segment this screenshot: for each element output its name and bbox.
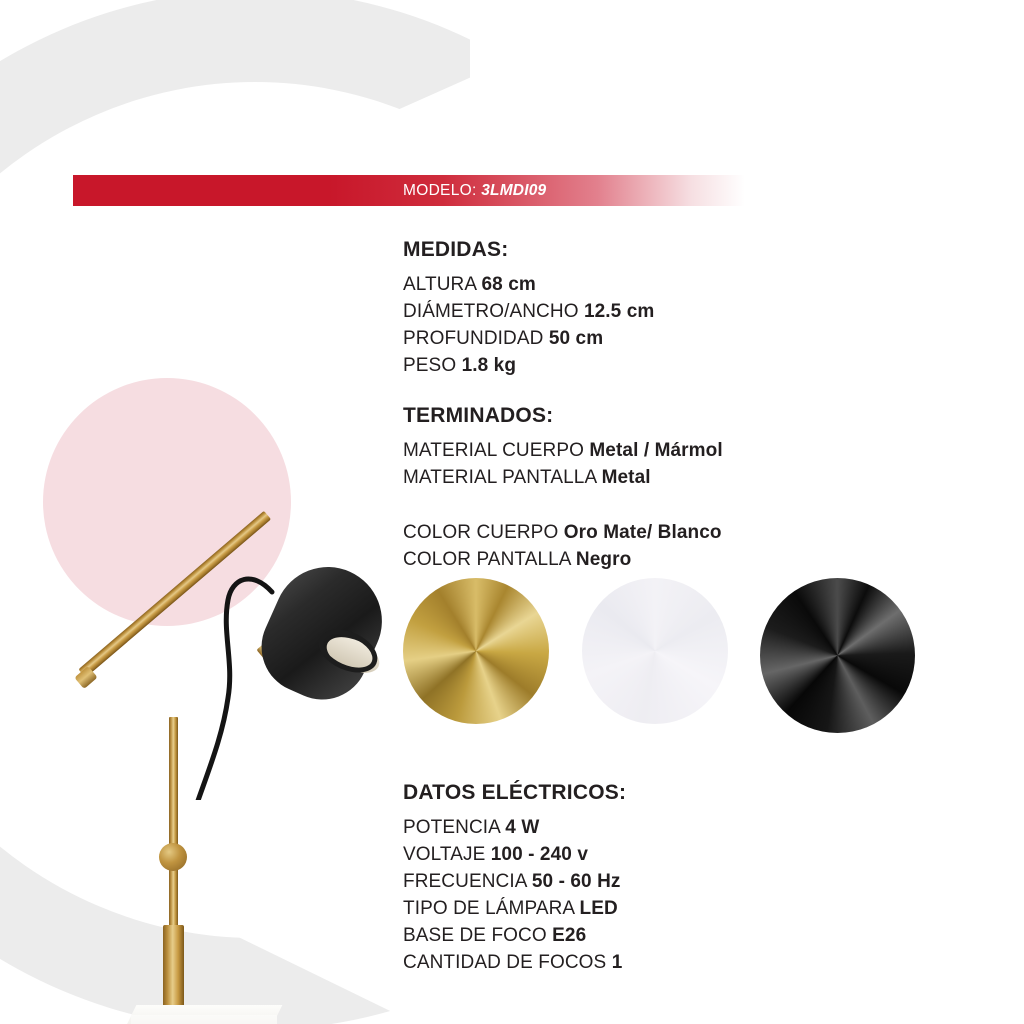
lamp-marble-base	[131, 1015, 277, 1024]
datos-electricos-heading: DATOS ELÉCTRICOS:	[403, 781, 823, 805]
spec-label: DIÁMETRO/ANCHO	[403, 301, 579, 322]
spec-label: COLOR CUERPO	[403, 522, 558, 543]
lamp-pivot-knob	[159, 843, 187, 871]
spec-row-material-cuerpo: MATERIAL CUERPO Metal / Mármol	[403, 438, 823, 465]
finish-swatches	[403, 578, 923, 733]
spec-label: COLOR PANTALLA	[403, 549, 571, 570]
model-banner-label: MODELO:	[403, 182, 477, 199]
spec-label: PESO	[403, 355, 456, 376]
section-terminados: TERMINADOS: MATERIAL CUERPO Metal / Márm…	[403, 404, 823, 574]
swatch-oro-mate	[403, 578, 549, 724]
spec-row-diametro: DIÁMETRO/ANCHO 12.5 cm	[403, 299, 823, 326]
spec-value: 50 cm	[549, 328, 603, 349]
spec-row-material-pantalla: MATERIAL PANTALLA Metal	[403, 465, 823, 492]
swatch-blanco	[582, 578, 728, 724]
spec-label: POTENCIA	[403, 817, 500, 838]
product-photo	[20, 270, 400, 800]
spec-label: ALTURA	[403, 274, 476, 295]
swatch-negro	[760, 578, 915, 733]
spec-row-voltaje: VOLTAJE 100 - 240 v	[403, 842, 823, 869]
terminados-heading: TERMINADOS:	[403, 404, 823, 428]
spec-row-potencia: POTENCIA 4 W	[403, 815, 823, 842]
spec-row-color-cuerpo: COLOR CUERPO Oro Mate/ Blanco	[403, 520, 823, 547]
model-code: 3LMDI09	[481, 182, 546, 199]
spec-value: 1.8 kg	[462, 355, 516, 376]
spec-value: E26	[552, 925, 586, 946]
spec-label: TIPO DE LÁMPARA	[403, 898, 574, 919]
spec-row-color-pantalla: COLOR PANTALLA Negro	[403, 547, 823, 574]
spec-value: 1	[612, 952, 623, 973]
spec-value: 68 cm	[482, 274, 536, 295]
spec-row-profundidad: PROFUNDIDAD 50 cm	[403, 326, 823, 353]
spec-row-tipo-lampara: TIPO DE LÁMPARA LED	[403, 896, 823, 923]
spec-row-frecuencia: FRECUENCIA 50 - 60 Hz	[403, 869, 823, 896]
section-datos-electricos: DATOS ELÉCTRICOS: POTENCIA 4 W VOLTAJE 1…	[403, 781, 823, 977]
lamp-post-rod	[169, 717, 178, 936]
spec-value: Negro	[576, 549, 631, 570]
spec-label: MATERIAL PANTALLA	[403, 467, 596, 488]
power-cord	[20, 270, 400, 800]
spec-row-cantidad-focos: CANTIDAD DE FOCOS 1	[403, 950, 823, 977]
spec-value: 4 W	[505, 817, 539, 838]
model-banner: MODELO: 3LMDI09	[73, 175, 745, 206]
spec-label: PROFUNDIDAD	[403, 328, 543, 349]
spec-label: FRECUENCIA	[403, 871, 526, 892]
spec-value: Metal	[602, 467, 651, 488]
spec-label: BASE DE FOCO	[403, 925, 547, 946]
spec-value: LED	[580, 898, 618, 919]
spec-label: CANTIDAD DE FOCOS	[403, 952, 606, 973]
section-medidas: MEDIDAS: ALTURA 68 cm DIÁMETRO/ANCHO 12.…	[403, 238, 823, 380]
spec-label: MATERIAL CUERPO	[403, 440, 584, 461]
spec-value: 50 - 60 Hz	[532, 871, 621, 892]
spec-row-base-foco: BASE DE FOCO E26	[403, 923, 823, 950]
product-spec-sheet: MODELO: 3LMDI09 MEDIDAS: ALTURA 68 cm	[0, 0, 1024, 1024]
spec-row-altura: ALTURA 68 cm	[403, 272, 823, 299]
spec-value: Metal / Mármol	[589, 440, 722, 461]
model-banner-text: MODELO: 3LMDI09	[403, 175, 546, 206]
spec-value: 100 - 240 v	[491, 844, 588, 865]
spec-row-peso: PESO 1.8 kg	[403, 353, 823, 380]
spec-value: Oro Mate/ Blanco	[564, 522, 722, 543]
spec-label: VOLTAJE	[403, 844, 485, 865]
spec-value: 12.5 cm	[584, 301, 654, 322]
medidas-heading: MEDIDAS:	[403, 238, 823, 262]
